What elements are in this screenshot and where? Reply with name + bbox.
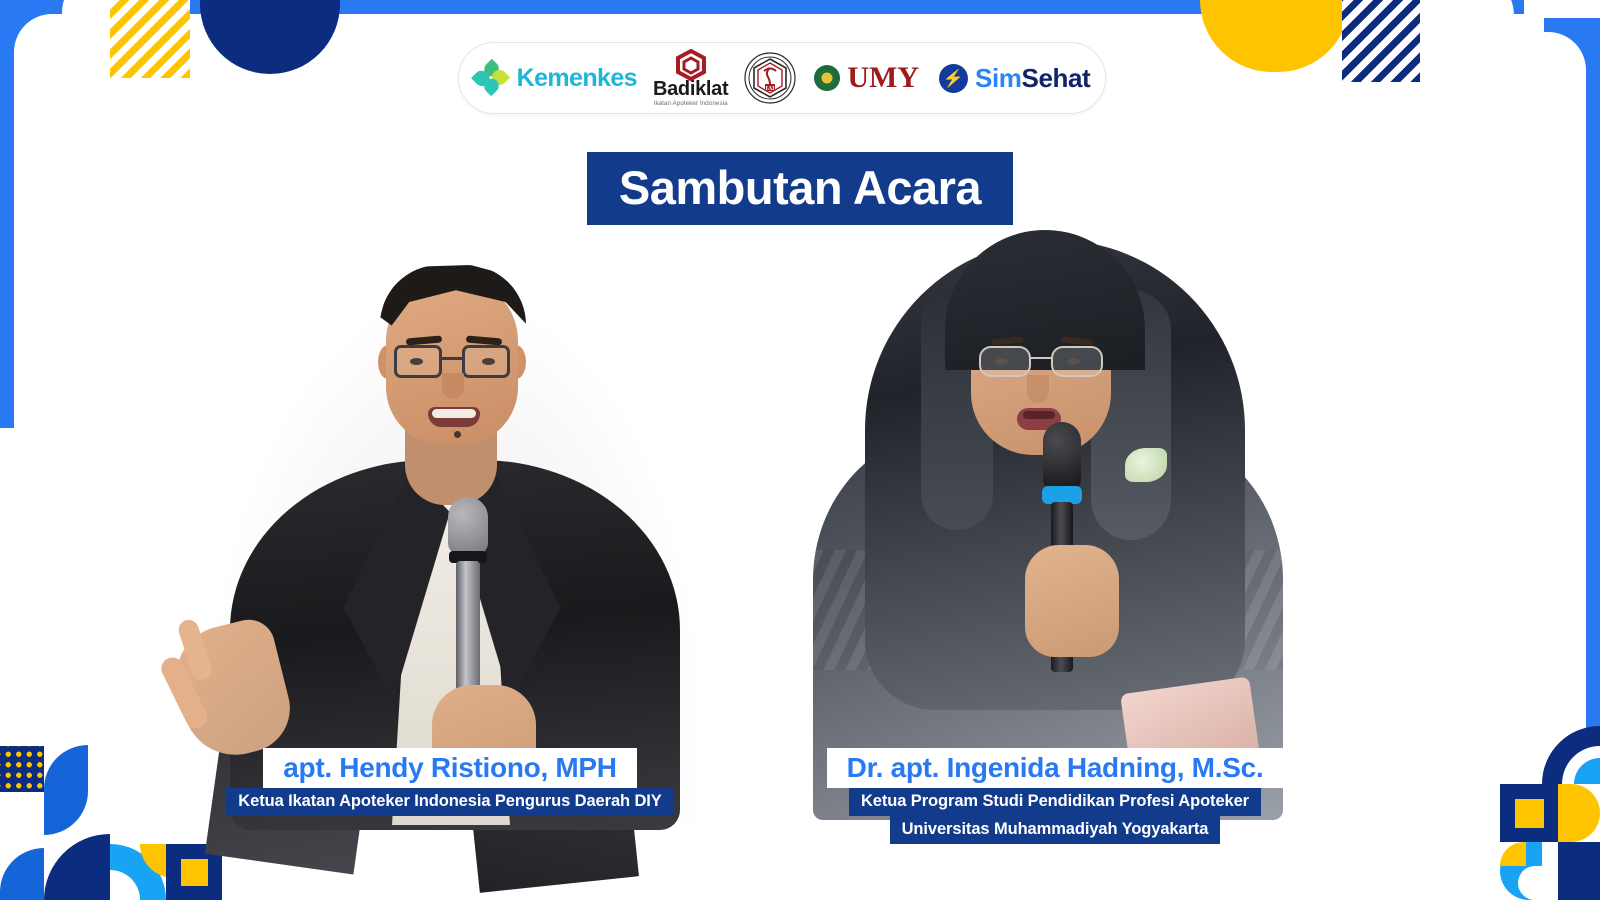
hand-holding-mic: [1025, 545, 1119, 657]
decor-yellow-arc: [1500, 842, 1526, 866]
badiklat-logo: Badiklat Ikatan Apoteker Indonesia: [653, 49, 728, 107]
simsehat-wordmark: SimSehat: [975, 63, 1090, 94]
speaker-name: Dr. apt. Ingenida Hadning, M.Sc.: [827, 748, 1284, 788]
decor-yellow-stripes: [110, 0, 190, 78]
svg-text:IAI: IAI: [766, 86, 776, 92]
page-title: Sambutan Acara: [587, 152, 1013, 225]
frame-corner-top-right: [1544, 18, 1600, 74]
kemenkes-flower-icon: [474, 62, 508, 94]
page-title-container: Sambutan Acara: [0, 152, 1600, 225]
kemenkes-logo: Kemenkes: [474, 62, 637, 94]
ornament-bottom-right: [1420, 725, 1600, 900]
simsehat-bolt-icon: ⚡: [939, 64, 968, 93]
umy-logo: UMY: [814, 61, 919, 95]
slide-canvas: Kemenkes Badiklat Ikatan Apoteker Indone…: [0, 0, 1600, 900]
decor-dot-grid: [0, 746, 44, 792]
decor-yellow-leaf: [1200, 0, 1350, 72]
badiklat-hexagon-icon: [675, 49, 707, 81]
speaker-role-block: Ketua Ikatan Apoteker Indonesia Pengurus…: [120, 788, 780, 816]
decor-navy-block: [1558, 842, 1600, 900]
sponsor-logo-bar: Kemenkes Badiklat Ikatan Apoteker Indone…: [458, 42, 1106, 114]
eyeglasses-icon: [979, 346, 1103, 378]
speaker-name: apt. Hendy Ristiono, MPH: [263, 748, 636, 788]
nose: [442, 373, 464, 399]
umy-wordmark: UMY: [847, 61, 919, 95]
decor-yellow-square: [1515, 799, 1544, 828]
kemenkes-wordmark: Kemenkes: [517, 64, 637, 93]
decor-yellow-square: [181, 859, 208, 886]
speaker-photo-2: [795, 230, 1305, 820]
speaker-caption-1: apt. Hendy Ristiono, MPH Ketua Ikatan Ap…: [120, 748, 780, 816]
frame-corner-top-left: [0, 0, 52, 52]
facial-mole: [454, 431, 461, 438]
decor-yellow-half: [1558, 784, 1600, 842]
decor-circle-white: [1422, 0, 1514, 62]
decor-blue-quarter: [0, 848, 44, 900]
badiklat-subtext: Ikatan Apoteker Indonesia: [654, 100, 728, 107]
speaker-caption-2: Dr. apt. Ingenida Hadning, M.Sc. Ketua P…: [790, 748, 1320, 844]
speaker-role-line: Ketua Program Studi Pendidikan Profesi A…: [849, 788, 1261, 816]
iai-logo: IAI: [744, 52, 796, 104]
frame-right-bar: [1586, 30, 1600, 730]
badiklat-wordmark: Badiklat: [653, 79, 728, 99]
nose: [1027, 375, 1049, 403]
decor-navy-stripes: [1342, 0, 1420, 82]
simsehat-word-sehat: Sehat: [1022, 63, 1091, 93]
decor-navy-leaf: [200, 0, 340, 74]
simsehat-logo: ⚡ SimSehat: [939, 63, 1090, 94]
flower-brooch-icon: [1125, 448, 1167, 482]
speaker-photo-1: [170, 225, 740, 825]
umy-sun-icon: [814, 65, 840, 91]
decor-blue-leaf: [44, 745, 88, 835]
speaker-role-block: Ketua Program Studi Pendidikan Profesi A…: [790, 788, 1320, 843]
decor-navy-quarter: [44, 834, 110, 900]
mouth: [428, 407, 480, 427]
speaker-role-line: Universitas Muhammadiyah Yogyakarta: [890, 816, 1221, 844]
speaker-role-line: Ketua Ikatan Apoteker Indonesia Pengurus…: [226, 788, 673, 816]
iai-emblem-icon: IAI: [744, 52, 796, 104]
simsehat-word-sim: Sim: [975, 63, 1021, 93]
